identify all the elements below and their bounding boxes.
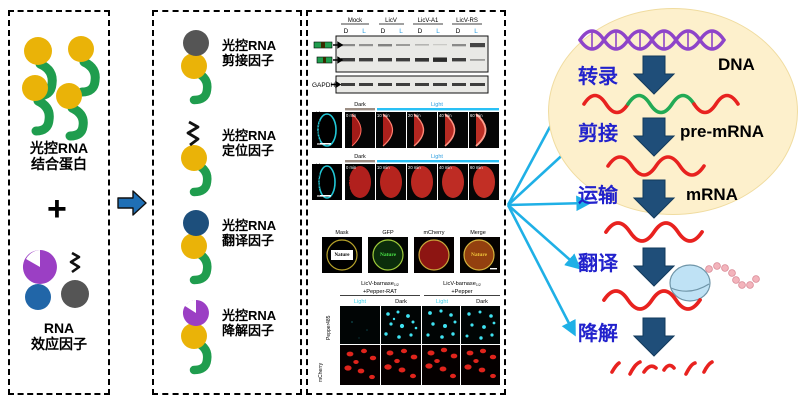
binding-protein-label: 光控RNA 结合蛋白	[10, 140, 108, 172]
tc2-dark-label: Dark	[354, 154, 366, 160]
tc2-left-label: LicV-mKa-CAAX	[316, 163, 322, 200]
step-degradation: 降解	[578, 321, 618, 345]
tc2-channel-label: Pepper-RAT	[346, 173, 352, 200]
mask-col-0: Mask	[335, 230, 348, 236]
svg-text:D: D	[418, 28, 423, 35]
gel-panel: Mock LicV LicV-A1 LicV-RS DL DL DL DL	[312, 14, 502, 96]
barnase-group1-line2: +Pepper-RAT	[363, 289, 398, 295]
tool-label-translation: 光控RNA 翻译因子	[222, 218, 276, 249]
exon-icon-unspliced	[317, 57, 342, 63]
svg-text:60 min: 60 min	[470, 113, 483, 118]
binding-protein-line1: 光控RNA	[10, 140, 108, 156]
tool-label-degradation: 光控RNA 降解因子	[222, 308, 276, 339]
barnase-cond-1: Dark	[395, 299, 407, 305]
barnase-row-label-mcherry: mCherry	[318, 363, 324, 382]
cap-zigzag	[188, 122, 198, 145]
tool-icon-degradation	[174, 298, 220, 366]
tool-translation-line2: 翻译因子	[222, 233, 276, 248]
tool-label-localization: 光控RNA 定位因子	[222, 128, 276, 159]
cap-purple-pacman	[183, 300, 209, 326]
ribosome-icon	[670, 263, 759, 301]
tool-degradation-line2: 降解因子	[222, 323, 276, 338]
svg-text:Nature: Nature	[380, 252, 397, 258]
svg-text:20 min: 20 min	[408, 113, 421, 118]
step-transcription: 转录	[578, 64, 618, 88]
cap-navy-circle	[183, 210, 209, 236]
mask-col-3: Merge	[470, 230, 486, 236]
tc2-light-label: Light	[431, 154, 443, 160]
svg-text:D: D	[344, 28, 349, 35]
pathway-block-arrow-4	[634, 248, 674, 286]
timecourse-panel-2: Dark Light 0 min 10 min 20 min 40 min	[312, 152, 502, 202]
svg-text:Nature: Nature	[335, 253, 351, 258]
pathway-block-arrow-2	[634, 118, 674, 156]
tool-icon-translation	[174, 208, 220, 276]
effector-zigzag	[71, 253, 79, 272]
barnase-cond-3: Dark	[476, 299, 488, 305]
barnase-panel: LicV-barnase1/2 +Pepper-RAT LicV-barnase…	[312, 278, 502, 390]
barnase-group2-line1: LicV-barnase1/2	[443, 281, 481, 287]
svg-text:L: L	[399, 28, 403, 35]
mask-col-1: GFP	[382, 230, 394, 236]
gel-group-0: Mock	[348, 18, 363, 24]
rna-effector-group	[22, 245, 102, 313]
tool-localization-line1: 光控RNA	[222, 128, 276, 143]
pathway-block-arrow-3	[634, 180, 674, 218]
effector-label: RNA 效应因子	[10, 320, 108, 352]
gel-group-1: LicV	[385, 18, 397, 24]
svg-text:0 min: 0 min	[346, 113, 357, 118]
svg-text:D: D	[456, 28, 461, 35]
barnase-cond-0: Light	[354, 299, 367, 305]
mrna-wave-nuclear	[608, 157, 704, 175]
mask-gfp-panel: Mask GFP mCherry Merge Nature Nature Nat…	[320, 228, 500, 274]
tool-splicing-line1: 光控RNA	[222, 38, 276, 53]
effector-circle-grey	[61, 280, 89, 308]
svg-text:L: L	[474, 28, 478, 35]
svg-text:Nature: Nature	[471, 252, 488, 258]
barnase-row-label-pepper485: Pepper485	[326, 316, 332, 340]
barnase-cond-2: Light	[436, 299, 449, 305]
molecule-label-premrna: pre-mRNA	[680, 122, 764, 141]
svg-text:L: L	[362, 28, 366, 35]
gel-row-label-gapdh: GAPDH	[312, 82, 335, 89]
degraded-fragments	[612, 362, 712, 374]
step-translation: 翻译	[578, 252, 619, 275]
effector-line2: 效应因子	[10, 336, 108, 352]
svg-text:40 min: 40 min	[439, 113, 452, 118]
pre-mrna-wave	[584, 96, 738, 113]
svg-text:0 min: 0 min	[346, 165, 357, 170]
dna-helix	[580, 31, 724, 49]
rna-binding-protein-group	[14, 22, 106, 127]
tc1-left-label: LicV-mKa-CAAX	[316, 111, 322, 148]
molecule-label-dna: DNA	[718, 55, 755, 74]
gel-group-3: LicV-RS	[456, 18, 478, 24]
barnase-group2-line2: +Pepper	[451, 289, 472, 295]
process-arrow-icon	[116, 188, 148, 218]
tc1-dark-label: Dark	[354, 102, 366, 108]
tool-label-splicing: 光控RNA 剪接因子	[222, 38, 276, 69]
effector-pacman-purple	[23, 250, 57, 284]
barnase-group1-line1: LicV-barnase1/2	[361, 281, 399, 287]
cap-grey-circle	[183, 30, 209, 56]
timecourse-panel-1: Dark Light 0 min 10 min 20 min	[312, 100, 502, 150]
tool-translation-line1: 光控RNA	[222, 218, 276, 233]
step-transport: 运输	[578, 183, 619, 207]
tool-icon-localization	[174, 118, 220, 186]
effector-circle-blue	[25, 284, 51, 310]
molecule-label-mrna: mRNA	[686, 185, 738, 204]
tc1-light-label: Light	[431, 102, 443, 108]
tool-icon-splicing	[174, 28, 220, 96]
pathway-block-arrow-5	[634, 318, 674, 356]
svg-text:10 min: 10 min	[377, 113, 390, 118]
tool-splicing-line2: 剪接因子	[222, 53, 276, 68]
svg-text:20 min: 20 min	[408, 165, 421, 170]
svg-text:L: L	[436, 28, 440, 35]
binding-protein-line2: 结合蛋白	[10, 156, 108, 172]
tc1-channel-label: Pepper-RAT	[346, 121, 352, 148]
gel-group-2: LicV-A1	[418, 18, 439, 24]
tool-localization-line2: 定位因子	[222, 143, 276, 158]
pathway-diagram: DNA 转录 剪接 pre-mRNA 运输 mRNA	[540, 0, 799, 405]
rbp-unit-3	[22, 75, 49, 131]
pathway-block-arrow-1	[634, 56, 674, 94]
plus-sign: +	[47, 192, 67, 226]
step-splicing: 剪接	[578, 121, 618, 145]
svg-text:10 min: 10 min	[377, 165, 390, 170]
svg-text:D: D	[381, 28, 386, 35]
mrna-wave-cytoplasm	[606, 223, 702, 241]
mask-col-2: mCherry	[423, 230, 444, 236]
tool-degradation-line1: 光控RNA	[222, 308, 276, 323]
exon-icon-spliced	[314, 42, 342, 48]
effector-line1: RNA	[10, 320, 108, 336]
svg-text:40 min: 40 min	[439, 165, 452, 170]
svg-text:60 min: 60 min	[470, 165, 483, 170]
